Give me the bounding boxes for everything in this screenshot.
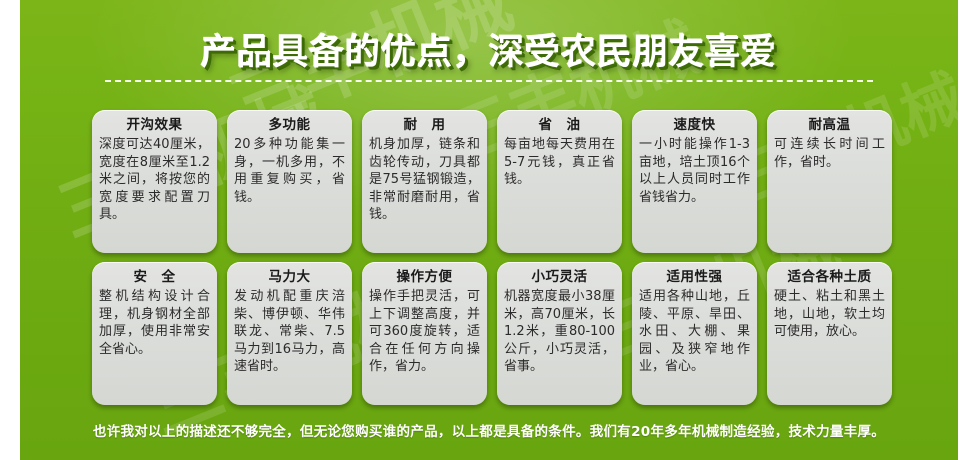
feature-card-title: 操作方便 xyxy=(369,269,480,286)
feature-card-title: 适合各种土质 xyxy=(774,269,885,286)
feature-card-body: 深度可达40厘米，宽度在8厘米至1.2米之间，将按您的宽度要求配置刀具。 xyxy=(99,136,210,224)
footer-note: 也许我对以上的描述还不够完全，但无论您购买谁的产品，以上都是具备的条件。我们有2… xyxy=(20,420,958,440)
feature-row-2: 安 全 整机结构设计合理，机身钢材全部加厚，使用非常安全省心。 马力大 发动机配… xyxy=(92,262,892,405)
feature-card-body: 可连续长时间工作，省时。 xyxy=(774,136,885,171)
feature-card-title: 省 油 xyxy=(504,117,615,134)
feature-card-title: 耐 用 xyxy=(369,117,480,134)
feature-card: 省 油 每亩地每天费用在5-7元钱，真正省钱。 xyxy=(497,110,622,253)
page-title: 产品具备的优点，深受农民朋友喜爱 xyxy=(20,24,958,75)
feature-card-title: 安 全 xyxy=(99,269,210,286)
feature-card: 马力大 发动机配重庆涪柴、博伊顿、华伟联龙、常柴、7.5马力到16马力，高速省时… xyxy=(227,262,352,405)
feature-card-body: 机器宽度最小38厘米，高70厘米，长1.2米，重80-100公斤，小巧灵活，省事… xyxy=(504,288,615,376)
feature-card-body: 每亩地每天费用在5-7元钱，真正省钱。 xyxy=(504,136,615,189)
feature-row-1: 开沟效果 深度可达40厘米，宽度在8厘米至1.2米之间，将按您的宽度要求配置刀具… xyxy=(92,110,892,253)
feature-card-body: 机身加厚，链条和齿轮传动，刀具都是75号猛钢锻造，非常耐磨耐用，省钱。 xyxy=(369,136,480,224)
promo-poster: 三丰机械 三丰机械 三丰机械 三丰机械 三丰机械 三丰机械 产品具备的优点，深受… xyxy=(20,0,958,460)
feature-card-grid: 开沟效果 深度可达40厘米，宽度在8厘米至1.2米之间，将按您的宽度要求配置刀具… xyxy=(92,110,892,414)
feature-card-body: 操作手把灵活，可上下调整高度，并可360度旋转，适合在任何方向操作，省力。 xyxy=(369,288,480,376)
feature-card: 小巧灵活 机器宽度最小38厘米，高70厘米，长1.2米，重80-100公斤，小巧… xyxy=(497,262,622,405)
feature-card: 开沟效果 深度可达40厘米，宽度在8厘米至1.2米之间，将按您的宽度要求配置刀具… xyxy=(92,110,217,253)
feature-card-body: 整机结构设计合理，机身钢材全部加厚，使用非常安全省心。 xyxy=(99,288,210,358)
feature-card-body: 适用各种山地，丘陵、平原、旱田、水田、大棚、果园、及狭窄地作业，省心。 xyxy=(639,288,750,376)
feature-card-body: 20多种功能集一身，一机多用，不用重复购买，省钱。 xyxy=(234,136,345,206)
feature-card: 耐 用 机身加厚，链条和齿轮传动，刀具都是75号猛钢锻造，非常耐磨耐用，省钱。 xyxy=(362,110,487,253)
feature-card-title: 开沟效果 xyxy=(99,117,210,134)
feature-card-title: 马力大 xyxy=(234,269,345,286)
feature-card-title: 耐高温 xyxy=(774,117,885,134)
feature-card: 安 全 整机结构设计合理，机身钢材全部加厚，使用非常安全省心。 xyxy=(92,262,217,405)
feature-card-body: 发动机配重庆涪柴、博伊顿、华伟联龙、常柴、7.5马力到16马力，高速省时。 xyxy=(234,288,345,376)
feature-card: 适用性强 适用各种山地，丘陵、平原、旱田、水田、大棚、果园、及狭窄地作业，省心。 xyxy=(632,262,757,405)
feature-card-title: 多功能 xyxy=(234,117,345,134)
feature-card: 多功能 20多种功能集一身，一机多用，不用重复购买，省钱。 xyxy=(227,110,352,253)
feature-card-title: 适用性强 xyxy=(639,269,750,286)
feature-card-title: 小巧灵活 xyxy=(504,269,615,286)
feature-card-body: 一小时能操作1-3亩地，培土顶16个以上人员同时工作省钱省力。 xyxy=(639,136,750,206)
feature-card: 耐高温 可连续长时间工作，省时。 xyxy=(767,110,892,253)
feature-card: 适合各种土质 硬土、粘土和黑土地，山地，软土均可使用，放心。 xyxy=(767,262,892,405)
feature-card: 操作方便 操作手把灵活，可上下调整高度，并可360度旋转，适合在任何方向操作，省… xyxy=(362,262,487,405)
feature-card-title: 速度快 xyxy=(639,117,750,134)
feature-card: 速度快 一小时能操作1-3亩地，培土顶16个以上人员同时工作省钱省力。 xyxy=(632,110,757,253)
feature-card-body: 硬土、粘土和黑土地，山地，软土均可使用，放心。 xyxy=(774,288,885,341)
dashed-divider xyxy=(105,80,873,82)
